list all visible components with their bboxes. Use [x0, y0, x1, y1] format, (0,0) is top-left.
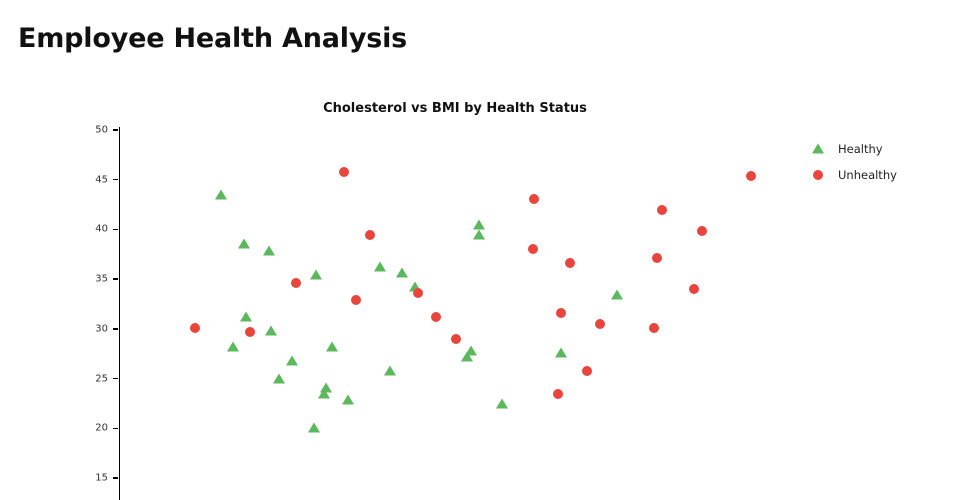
y-axis-tick-mark — [113, 179, 118, 180]
data-point-healthy — [342, 395, 354, 405]
data-point-unhealthy — [291, 278, 301, 288]
y-axis-tick-mark — [113, 278, 118, 279]
data-point-healthy — [265, 325, 277, 335]
data-point-unhealthy — [689, 284, 699, 294]
data-point-healthy — [308, 423, 320, 433]
data-point-unhealthy — [413, 288, 423, 298]
data-point-healthy — [238, 239, 250, 249]
data-point-healthy — [318, 389, 330, 399]
data-point-healthy — [461, 351, 473, 361]
legend-label: Healthy — [838, 142, 883, 156]
data-point-unhealthy — [697, 226, 707, 236]
legend-item-healthy[interactable]: Healthy — [806, 136, 951, 162]
data-point-healthy — [240, 311, 252, 321]
data-point-healthy — [310, 270, 322, 280]
data-point-unhealthy — [657, 205, 667, 215]
y-axis-tick-mark — [113, 477, 118, 478]
y-axis-tick-mark — [113, 229, 118, 230]
data-point-healthy — [473, 230, 485, 240]
legend-marker-triangle-icon — [812, 144, 824, 154]
y-axis-tick-label: 35 — [68, 274, 108, 285]
y-axis-tick-label: 15 — [68, 473, 108, 484]
data-point-unhealthy — [528, 244, 538, 254]
y-axis-tick-mark — [113, 378, 118, 379]
data-point-unhealthy — [553, 389, 563, 399]
data-point-unhealthy — [351, 295, 361, 305]
data-point-unhealthy — [365, 230, 375, 240]
data-point-unhealthy — [190, 323, 200, 333]
legend-item-unhealthy[interactable]: Unhealthy — [806, 162, 951, 188]
legend-label: Unhealthy — [838, 168, 897, 182]
data-point-healthy — [374, 262, 386, 272]
plot-area — [120, 130, 790, 500]
scatter-chart-figure: Cholesterol vs BMI by Health Status 5045… — [0, 0, 960, 500]
y-axis-tick-label: 25 — [68, 373, 108, 384]
data-point-healthy — [611, 290, 623, 300]
y-axis-tick-label: 20 — [68, 423, 108, 434]
data-point-unhealthy — [649, 323, 659, 333]
y-axis-tick-label: 45 — [68, 174, 108, 185]
data-point-healthy — [396, 268, 408, 278]
y-axis-tick-mark — [113, 129, 118, 130]
data-point-healthy — [273, 373, 285, 383]
y-axis-tick-label: 50 — [68, 125, 108, 136]
y-axis-tick-mark — [113, 428, 118, 429]
data-point-unhealthy — [746, 171, 756, 181]
data-point-unhealthy — [652, 253, 662, 263]
data-point-unhealthy — [582, 366, 592, 376]
data-point-unhealthy — [556, 308, 566, 318]
data-point-healthy — [215, 189, 227, 199]
data-point-healthy — [496, 399, 508, 409]
data-point-healthy — [263, 246, 275, 256]
data-point-unhealthy — [529, 194, 539, 204]
y-axis-tick-label: 40 — [68, 224, 108, 235]
data-point-unhealthy — [565, 258, 575, 268]
data-point-healthy — [384, 365, 396, 375]
y-axis-tick-mark — [113, 328, 118, 329]
chart-legend: HealthyUnhealthy — [806, 136, 951, 188]
data-point-unhealthy — [595, 319, 605, 329]
data-point-healthy — [326, 341, 338, 351]
data-point-healthy — [555, 347, 567, 357]
data-point-unhealthy — [431, 312, 441, 322]
chart-title: Cholesterol vs BMI by Health Status — [120, 101, 790, 116]
data-point-unhealthy — [245, 327, 255, 337]
legend-marker-circle-icon — [813, 170, 823, 180]
data-point-healthy — [227, 341, 239, 351]
data-point-unhealthy — [451, 334, 461, 344]
y-axis-tick-label: 30 — [68, 323, 108, 334]
data-point-unhealthy — [339, 167, 349, 177]
data-point-healthy — [286, 355, 298, 365]
data-point-healthy — [473, 220, 485, 230]
